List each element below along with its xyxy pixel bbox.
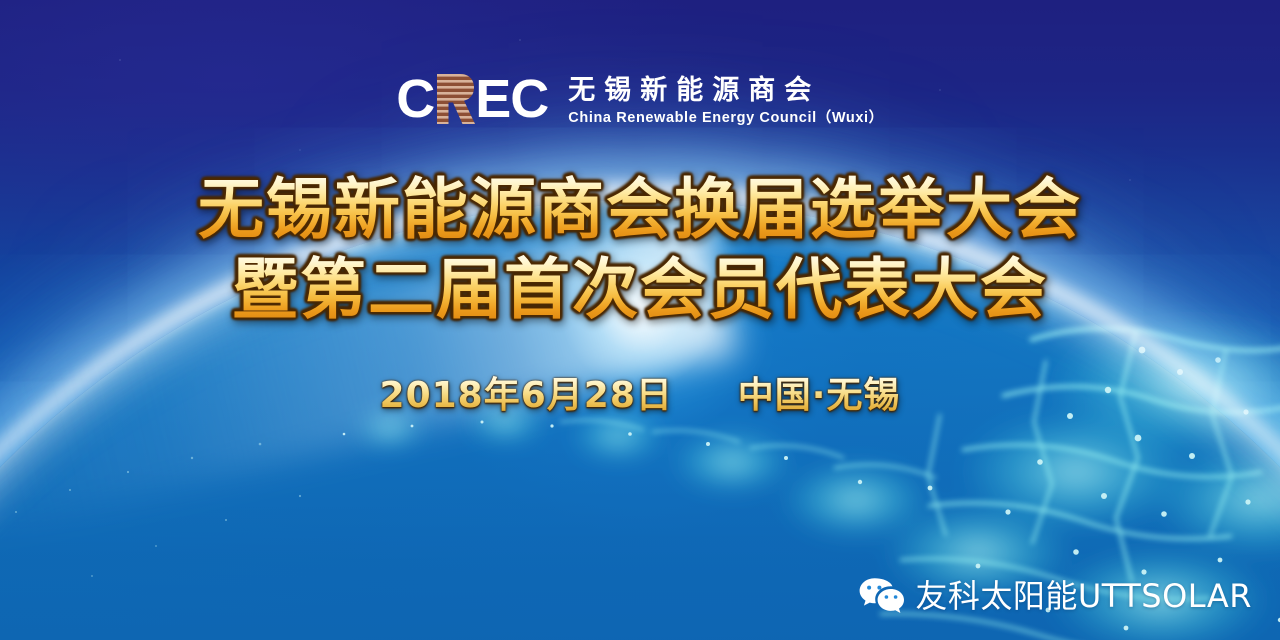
crec-acronym: C	[396, 72, 548, 126]
crec-letters-ec: EC	[475, 72, 548, 126]
poster-title: 无锡新能源商会换届选举大会 暨第二届首次会员代表大会	[0, 172, 1280, 328]
title-line-2: 暨第二届首次会员代表大会	[0, 252, 1280, 328]
watermark-label: 友科太阳能UTTSOLAR	[915, 577, 1252, 615]
striped-solar-r-icon	[433, 72, 476, 126]
logo-english-name: China Renewable Energy Council（Wuxi）	[568, 108, 883, 128]
event-poster: C	[0, 0, 1280, 640]
event-meta: 2018年6月28日 中国·无锡	[0, 374, 1280, 418]
crec-letter-c: C	[396, 72, 434, 126]
crec-logo-mark: C	[396, 72, 548, 126]
logo-chinese-name: 无锡新能源商会	[568, 74, 883, 106]
crec-logo: C	[0, 72, 1280, 128]
crec-logo-text: 无锡新能源商会 China Renewable Energy Council（W…	[568, 72, 883, 128]
title-line-1: 无锡新能源商会换届选举大会	[0, 172, 1280, 248]
wechat-watermark: 友科太阳能UTTSOLAR	[858, 576, 1252, 616]
wechat-icon	[858, 576, 904, 616]
event-location: 中国·无锡	[738, 374, 901, 418]
event-date: 2018年6月28日	[380, 374, 673, 418]
